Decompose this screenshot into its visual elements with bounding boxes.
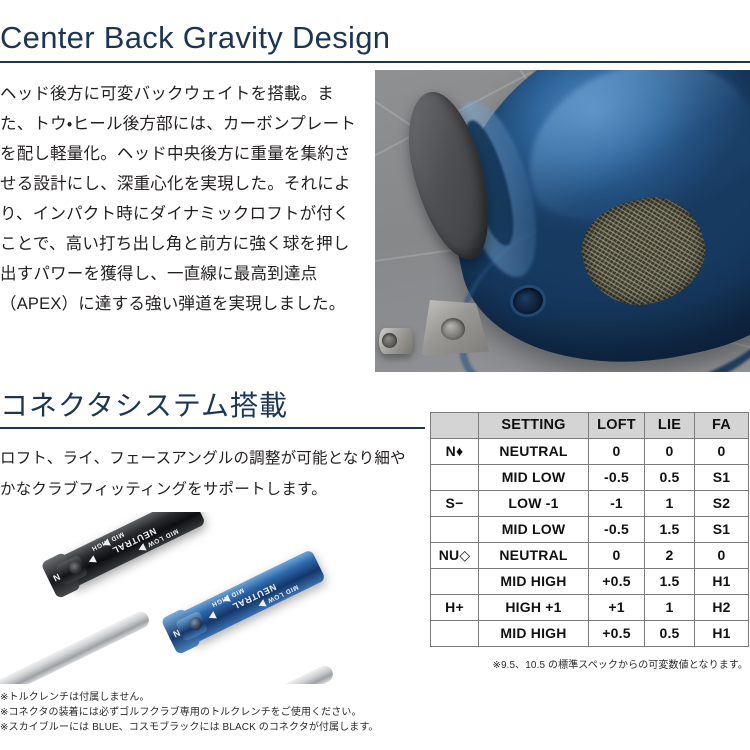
spec-cell-loft: +0.5: [589, 569, 645, 595]
spec-table-row: H+HIGH +1+11H2: [431, 595, 749, 621]
spec-cell-loft: +1: [589, 595, 645, 621]
spec-table-row: MID HIGH+0.51.5H1: [431, 569, 749, 595]
footnote-line: ※トルクレンチは付属しません。: [0, 690, 430, 705]
spec-table-body: N♦NEUTRAL000MID LOW-0.50.5S1S−LOW -1-11S…: [431, 439, 749, 647]
heading-divider-gravity: [0, 61, 750, 63]
spec-cell-loft: -0.5: [589, 517, 645, 543]
spec-cell-lie: 0.5: [645, 465, 695, 491]
spec-cell-loft: -1: [589, 491, 645, 517]
spec-cell-fa: S2: [695, 491, 749, 517]
connector-sleeves-image: N NEUTRAL MID HIGH MID LOW N NEUTRAL MID…: [0, 512, 400, 684]
spec-cell-fa: 0: [695, 439, 749, 465]
spec-cell-code: H+: [431, 595, 479, 621]
spec-header-loft: LOFT: [589, 413, 645, 439]
spec-cell-setting: NEUTRAL: [479, 543, 589, 569]
spec-table-row: MID LOW-0.51.5S1: [431, 517, 749, 543]
footnote-line: ※コネクタの装着には必ずゴルフクラブ専用のトルクレンチをご使用ください。: [0, 705, 430, 720]
spec-table-row: MID HIGH+0.50.5H1: [431, 621, 749, 647]
spec-table-container: SETTING LOFT LIE FA N♦NEUTRAL000MID LOW-…: [430, 412, 748, 647]
spec-header-setting: SETTING: [479, 413, 589, 439]
spec-cell-lie: 2: [645, 543, 695, 569]
footnote-line: ※スカイブルーには BLUE、コスモブラックには BLACK のコネクタが付属し…: [0, 720, 430, 735]
spec-cell-loft: +0.5: [589, 621, 645, 647]
spec-cell-setting: MID HIGH: [479, 621, 589, 647]
spec-cell-fa: H1: [695, 569, 749, 595]
page-title-connector: コネクタシステム搭載: [0, 392, 288, 420]
spec-cell-lie: 0: [645, 439, 695, 465]
spec-cell-fa: H1: [695, 621, 749, 647]
page-title-gravity: Center Back Gravity Design: [0, 22, 390, 53]
heading-divider-connector: [0, 427, 425, 429]
spec-cell-loft: 0: [589, 439, 645, 465]
spec-cell-code: [431, 465, 479, 491]
spec-cell-setting: MID LOW: [479, 517, 589, 543]
spec-cell-setting: LOW -1: [479, 491, 589, 517]
spec-cell-lie: 1: [645, 595, 695, 621]
spec-cell-lie: 1.5: [645, 517, 695, 543]
spec-cell-fa: S1: [695, 465, 749, 491]
spec-table-header-row: SETTING LOFT LIE FA: [431, 413, 749, 439]
loft-lie-fa-spec-table: SETTING LOFT LIE FA N♦NEUTRAL000MID LOW-…: [430, 412, 749, 647]
spec-table-row: N♦NEUTRAL000: [431, 439, 749, 465]
spec-cell-setting: MID LOW: [479, 465, 589, 491]
spec-cell-fa: S1: [695, 517, 749, 543]
gravity-description-text: ヘッド後方に可変バックウェイトを搭載。また、トウ・ヒール後方部には、カーボンプレ…: [0, 79, 362, 319]
spec-cell-code: N♦: [431, 439, 479, 465]
spec-cell-setting: MID HIGH: [479, 569, 589, 595]
connector-description-text: ロフト、ライ、フェースアングルの調整が可能となり細やかなクラブフィッティングをサ…: [0, 443, 415, 505]
spec-cell-lie: 1: [645, 491, 695, 517]
spec-cell-code: NU◇: [431, 543, 479, 569]
spec-cell-fa: 0: [695, 543, 749, 569]
spec-table-head: SETTING LOFT LIE FA: [431, 413, 749, 439]
spec-table-note: ※9.5、10.5 の標準スペックからの可変数値となります。: [430, 656, 748, 671]
spec-cell-code: [431, 569, 479, 595]
golf-shaft-blue: [166, 663, 335, 684]
spec-cell-code: S−: [431, 491, 479, 517]
spec-table-row: NU◇NEUTRAL020: [431, 543, 749, 569]
spec-header-code: [431, 413, 479, 439]
spec-cell-setting: NEUTRAL: [479, 439, 589, 465]
weight-bracket-hole: [441, 318, 465, 340]
weight-screw-part: [379, 328, 413, 354]
spec-cell-code: [431, 517, 479, 543]
spec-table-row: MID LOW-0.50.5S1: [431, 465, 749, 491]
spec-cell-lie: 1.5: [645, 569, 695, 595]
spec-cell-code: [431, 621, 479, 647]
spec-cell-fa: H2: [695, 595, 749, 621]
spec-table-row: S−LOW -1-11S2: [431, 491, 749, 517]
spec-cell-setting: HIGH +1: [479, 595, 589, 621]
spec-header-lie: LIE: [645, 413, 695, 439]
golf-shaft-black: [0, 609, 152, 684]
driver-head-render-image: [375, 70, 750, 372]
spec-cell-lie: 0.5: [645, 621, 695, 647]
spec-header-fa: FA: [695, 413, 749, 439]
spec-cell-loft: 0: [589, 543, 645, 569]
footnotes-list: ※トルクレンチは付属しません。 ※コネクタの装着には必ずゴルフクラブ専用のトルク…: [0, 690, 430, 735]
spec-cell-loft: -0.5: [589, 465, 645, 491]
